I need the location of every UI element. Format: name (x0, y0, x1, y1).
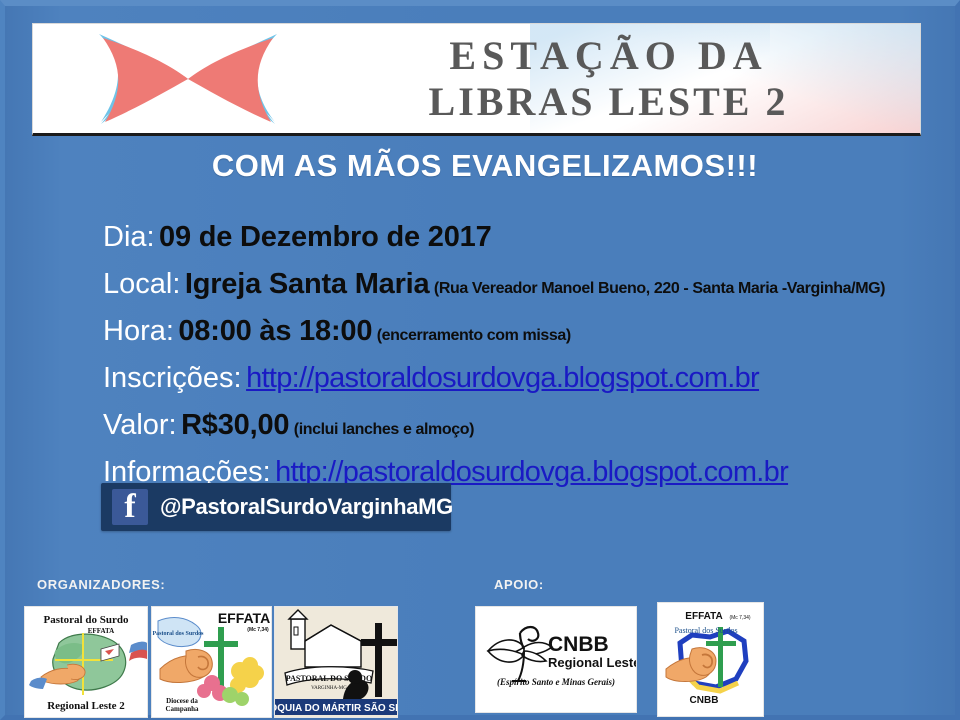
detail-value: Igreja Santa Maria (185, 268, 430, 300)
svg-text:Campanha: Campanha (165, 705, 199, 713)
detail-label: Local: (103, 268, 180, 300)
detail-label: Dia: (103, 221, 155, 253)
detail-value: 09 de Dezembro de 2017 (159, 221, 491, 253)
logo5-line4: CNBB (690, 695, 719, 706)
detail-row-valor: Valor: R$30,00 (inclui lanches e almoço) (103, 406, 933, 449)
detail-row-local: Local: Igreja Santa Maria (Rua Vereador … (103, 265, 933, 308)
logo-pastoral-do-surdo-regional-leste-2: Pastoral do Surdo EFFATA Regional Leste … (24, 606, 148, 718)
logo5-line1: EFFATA (685, 611, 722, 622)
support-label: APOIO: (494, 577, 544, 592)
logo4-line1: CNBB (548, 633, 609, 656)
logo2-line2: (Mc 7,34) (247, 627, 269, 633)
four-point-star-logo-icon (93, 30, 283, 128)
logo1-line1: Pastoral do Surdo (44, 614, 129, 626)
banner-title: ESTAÇÃO DA LIBRAS LESTE 2 (301, 29, 916, 129)
detail-row-inscricoes: Inscrições: http://pastoraldosurdovga.bl… (103, 359, 933, 402)
logo-effata-pastoral-dos-surdos-cnbb: EFFATA (Mc 7,34) Pastoral dos Surdos CNB… (657, 602, 764, 717)
logo-effata-diocese-da-campanha: Pastoral dos Surdos EFFATA (Mc 7,34) Dio… (151, 606, 272, 718)
logo-cnbb-regional-leste-2: CNBB Regional Leste 2 (Espírito Santo e … (475, 606, 637, 713)
logo-paroquia-do-martir-sao-sebastiao: PASTORAL DO SURDO VARGINHA-MG PAROQUIA D… (274, 606, 398, 718)
logo2-line4: Diocese da (166, 697, 198, 705)
facebook-f-glyph: f (112, 488, 148, 526)
detail-value: 08:00 às 18:00 (178, 315, 372, 347)
logo2-line1: EFFATA (218, 610, 270, 626)
banner-title-line1: ESTAÇÃO DA (301, 33, 916, 79)
logo4-line2: Regional Leste 2 (548, 655, 636, 670)
detail-value: R$30,00 (181, 409, 289, 441)
detail-note: (inclui lanches e almoço) (294, 421, 474, 438)
logo3-line2: VARGINHA-MG (311, 686, 347, 691)
event-poster: ESTAÇÃO DA LIBRAS LESTE 2 COM AS MÃOS EV… (0, 0, 960, 720)
detail-row-hora: Hora: 08:00 às 18:00 (encerramento com m… (103, 312, 933, 355)
logo4-line3: (Espírito Santo e Minas Gerais) (497, 677, 615, 687)
detail-note: (encerramento com missa) (377, 327, 571, 344)
event-details: Dia: 09 de Dezembro de 2017 Local: Igrej… (103, 218, 933, 500)
facebook-badge[interactable]: f @PastoralSurdoVarginhaMG (101, 483, 451, 531)
organizers-label: ORGANIZADORES: (37, 577, 165, 592)
banner-title-line2: LIBRAS LESTE 2 (301, 79, 916, 125)
detail-label: Hora: (103, 315, 174, 347)
svg-text:Pastoral dos Surdos: Pastoral dos Surdos (152, 631, 204, 637)
detail-label: Inscrições: (103, 362, 242, 394)
logo5-line2: (Mc 7,34) (729, 615, 750, 621)
logo5-line3: Pastoral dos Surdos (674, 626, 737, 635)
page-title: COM AS MÃOS EVANGELIZAMOS!!! (5, 148, 960, 184)
logo1-line2: EFFATA (88, 627, 114, 635)
facebook-handle: @PastoralSurdoVarginhaMG (160, 494, 453, 520)
registration-link[interactable]: http://pastoraldosurdovga.blogspot.com.b… (246, 362, 759, 394)
detail-note: (Rua Vereador Manoel Bueno, 220 - Santa … (434, 280, 885, 297)
header-banner: ESTAÇÃO DA LIBRAS LESTE 2 (32, 23, 921, 136)
detail-row-dia: Dia: 09 de Dezembro de 2017 (103, 218, 933, 261)
logo3-line3: PAROQUIA DO MÁRTIR SÃO SEBAS (275, 701, 397, 714)
facebook-f-icon: f (112, 489, 148, 525)
detail-label: Valor: (103, 409, 177, 441)
logo1-line3: Regional Leste 2 (47, 700, 125, 712)
